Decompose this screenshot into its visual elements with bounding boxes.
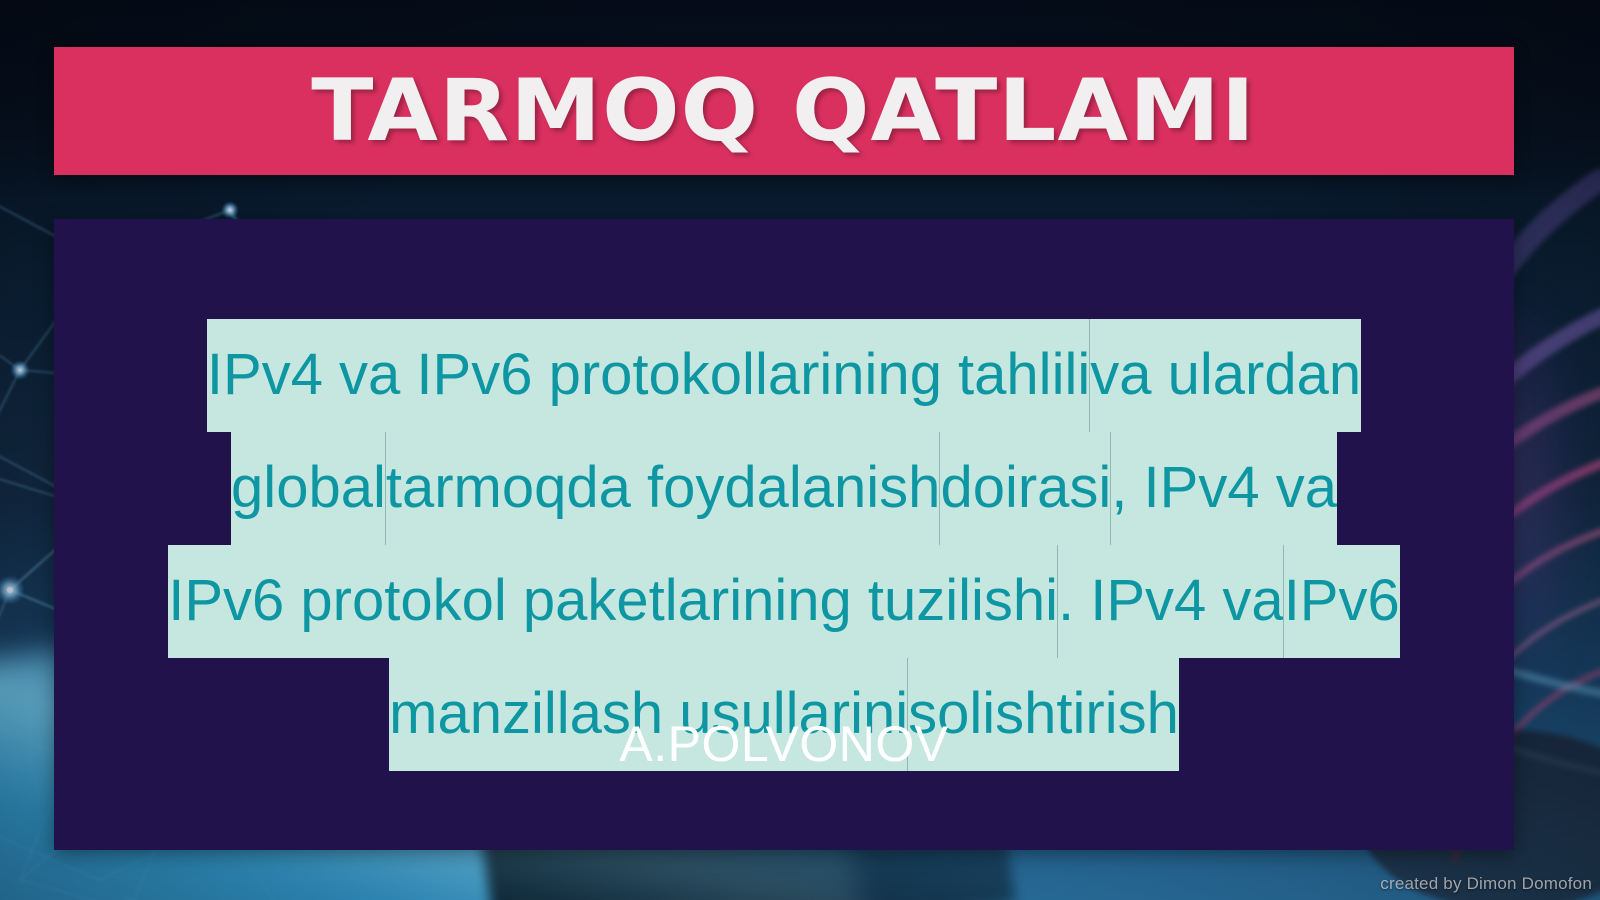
highlight-segment: , IPv4 va bbox=[1110, 432, 1337, 545]
highlight-segment: IPv6 bbox=[1283, 545, 1400, 658]
page-title: TARMOQ QATLAMI bbox=[312, 68, 1257, 154]
presentation-slide: TARMOQ QATLAMI IPv4 va IPv6 protokollari… bbox=[0, 0, 1600, 900]
highlight-segment: global bbox=[231, 432, 387, 545]
highlight-segment: tarmoqda foydalanish bbox=[385, 432, 942, 545]
author-name: A.POLVONOV bbox=[54, 719, 1514, 769]
highlighted-paragraph: IPv4 va IPv6 protokollarining tahlili va… bbox=[54, 319, 1514, 771]
highlight-segment: IPv4 va IPv6 protokollarining tahlili bbox=[207, 319, 1091, 432]
highlight-segment: doirasi bbox=[939, 432, 1112, 545]
paragraph-line: IPv4 va IPv6 protokollarining tahlili va… bbox=[54, 319, 1514, 432]
highlight-segment: IPv6 protokol paketlarining tuzilishi bbox=[168, 545, 1059, 658]
content-panel: IPv4 va IPv6 protokollarining tahlili va… bbox=[54, 219, 1514, 850]
paragraph-line: global tarmoqda foydalanish doirasi, IPv… bbox=[54, 432, 1514, 545]
paragraph-line: IPv6 protokol paketlarining tuzilishi. I… bbox=[54, 545, 1514, 658]
highlight-segment: va ulardan bbox=[1089, 319, 1361, 432]
title-banner: TARMOQ QATLAMI bbox=[54, 47, 1514, 175]
watermark-credit: created by Dimon Domofon bbox=[1380, 874, 1592, 894]
highlight-segment: . IPv4 va bbox=[1057, 545, 1285, 658]
